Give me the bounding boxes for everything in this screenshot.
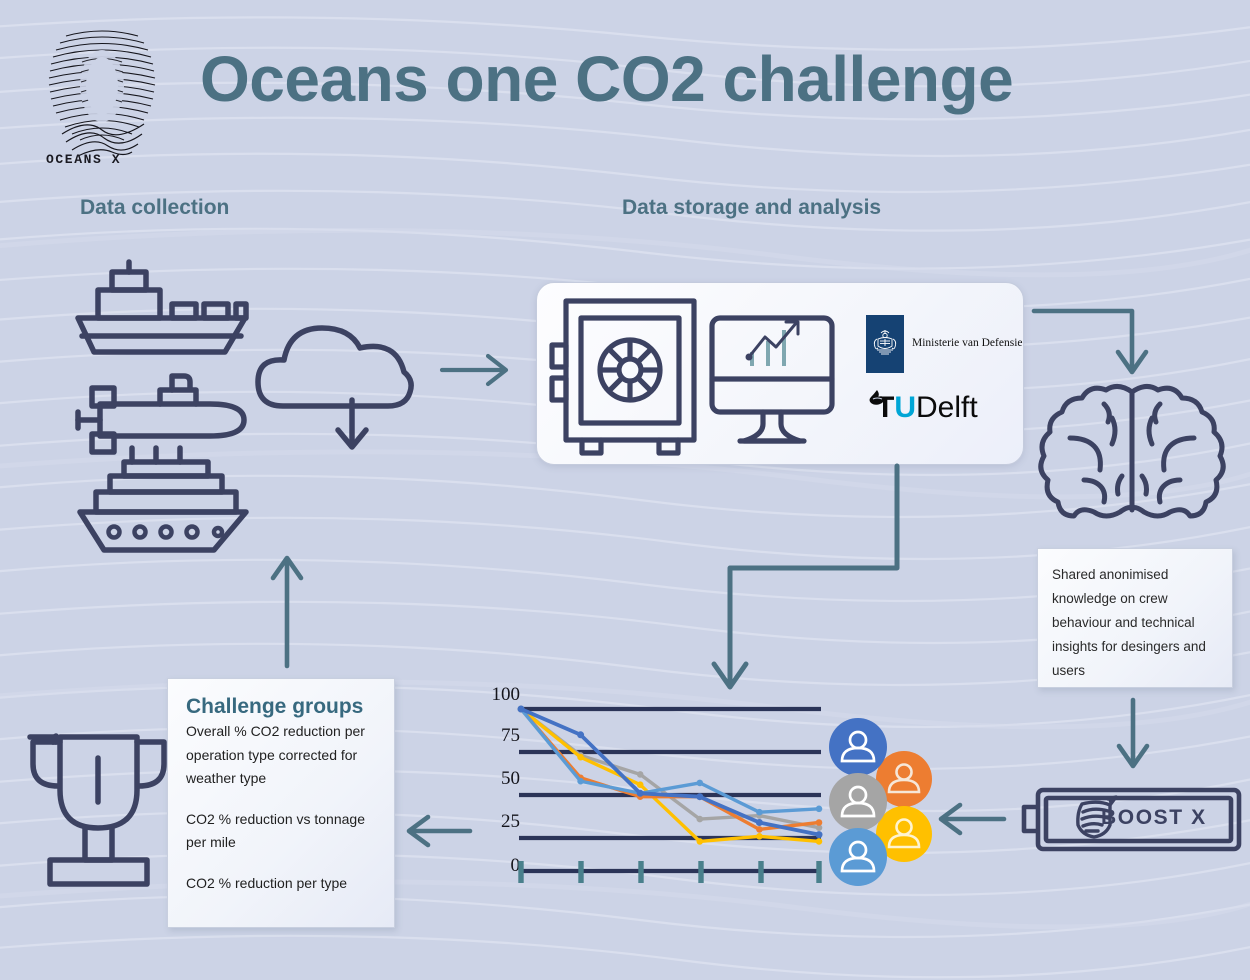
safe-dial-icon (600, 340, 660, 400)
monitor-trend-arrow-icon (747, 322, 798, 359)
panel-icon-layer (0, 0, 1250, 980)
monitor-icon (712, 318, 832, 441)
